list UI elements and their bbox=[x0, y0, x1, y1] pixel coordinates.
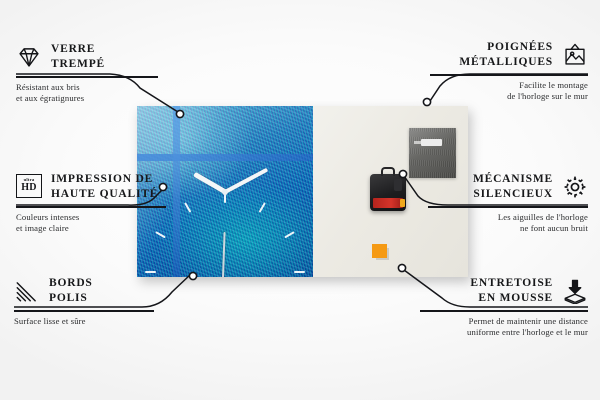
callout-title: IMPRESSION DE HAUTE QUALITÉ bbox=[51, 172, 158, 201]
callout-desc: Facilite le montage de l'horloge sur le … bbox=[430, 80, 588, 103]
callout-rule bbox=[420, 310, 588, 312]
picture-hanger-icon bbox=[562, 42, 588, 68]
clock-second-hand bbox=[222, 231, 225, 277]
infographic-stage: VERRE TREMPÉ Résistant aux bris et aux é… bbox=[0, 0, 600, 400]
callout-rule bbox=[14, 310, 154, 312]
hour-tick bbox=[294, 271, 305, 273]
diamond-icon bbox=[16, 44, 42, 70]
callout-title: VERRE TREMPÉ bbox=[51, 42, 105, 71]
ultra-hd-icon: ultra HD bbox=[16, 174, 42, 200]
callout-title: POIGNÉES MÉTALLIQUES bbox=[459, 40, 553, 69]
callout-title: ENTRETOISE EN MOUSSE bbox=[470, 276, 553, 305]
callout-rule bbox=[428, 206, 588, 208]
clock-center-hub bbox=[222, 189, 228, 195]
clock-minute-hand bbox=[224, 167, 268, 193]
clock-movement bbox=[370, 174, 406, 211]
callout-title: MÉCANISME SILENCIEUX bbox=[473, 172, 553, 201]
foam-spacer-icon bbox=[562, 278, 588, 304]
metal-hanger-plate bbox=[409, 128, 456, 178]
callout-desc: Les aiguilles de l'horloge ne font aucun… bbox=[428, 212, 588, 235]
movement-dial bbox=[394, 179, 402, 191]
hour-tick bbox=[284, 231, 295, 238]
callout-verre-trempe[interactable]: VERRE TREMPÉ Résistant aux bris et aux é… bbox=[16, 42, 158, 105]
callout-rule bbox=[16, 76, 158, 78]
callout-desc: Permet de maintenir une distance uniform… bbox=[420, 316, 588, 339]
product-image bbox=[137, 106, 468, 277]
battery bbox=[373, 198, 403, 208]
callout-desc: Surface lisse et sûre bbox=[14, 316, 154, 327]
hour-tick bbox=[145, 271, 156, 273]
callout-desc: Couleurs intenses et image claire bbox=[16, 212, 166, 235]
callout-desc: Résistant aux bris et aux égratignures bbox=[16, 82, 158, 105]
callout-poignees-metalliques[interactable]: POIGNÉES MÉTALLIQUES Facilite le montage… bbox=[430, 40, 588, 103]
callout-mecanisme-silencieux[interactable]: MÉCANISME SILENCIEUX Les aiguilles de l'… bbox=[428, 172, 588, 235]
callout-title: BORDS POLIS bbox=[49, 276, 93, 305]
ultra-hd-main-label: HD bbox=[21, 183, 37, 193]
foam-spacer bbox=[372, 244, 387, 258]
polished-edge-icon bbox=[14, 278, 40, 304]
callout-entretoise-en-mousse[interactable]: ENTRETOISE EN MOUSSE Permet de maintenir… bbox=[420, 276, 588, 339]
hour-tick bbox=[259, 202, 266, 213]
hanger-slot bbox=[421, 139, 442, 146]
movement-hook bbox=[381, 167, 395, 176]
callout-rule bbox=[430, 74, 588, 76]
hour-tick bbox=[184, 202, 191, 213]
callout-bords-polis[interactable]: BORDS POLIS Surface lisse et sûre bbox=[14, 276, 154, 327]
callout-impression-haute-qualite[interactable]: ultra HD IMPRESSION DE HAUTE QUALITÉ Cou… bbox=[16, 172, 166, 235]
callout-rule bbox=[16, 206, 166, 208]
gear-icon bbox=[562, 174, 588, 200]
